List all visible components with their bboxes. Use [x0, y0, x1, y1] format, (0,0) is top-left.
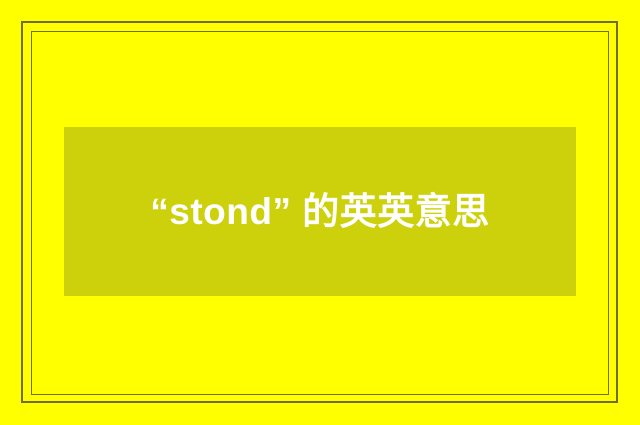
page-title: “stond” 的英英意思 — [150, 183, 489, 240]
headline-banner: “stond” 的英英意思 — [64, 127, 576, 296]
poster-card: “stond” 的英英意思 — [0, 0, 640, 425]
